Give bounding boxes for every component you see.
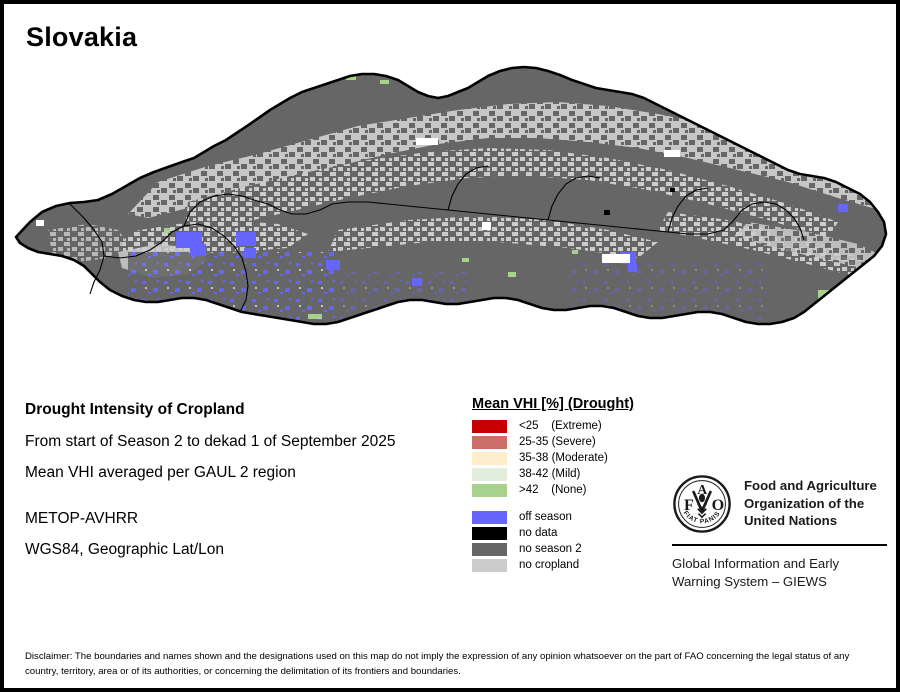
legend-item-no-season-2[interactable]: no season 2 — [472, 542, 702, 557]
legend-swatch-none — [472, 484, 507, 497]
legend-label-extreme: <25 (Extreme) — [519, 421, 602, 433]
legend-label-off-season: off season — [519, 512, 572, 524]
fao-divider — [672, 544, 887, 546]
legend-item-no-cropland[interactable]: no cropland — [472, 558, 702, 573]
fao-org-line-3: United Nations — [744, 512, 877, 530]
description-projection: WGS84, Geographic Lat/Lon — [25, 542, 465, 558]
description-heading: Drought Intensity of Cropland — [25, 402, 465, 418]
legend-item-none[interactable]: >42 (None) — [472, 483, 702, 498]
description-gap — [25, 497, 465, 511]
legend-label-none: >42 (None) — [519, 485, 586, 497]
legend-swatch-no-cropland — [472, 559, 507, 572]
legend-swatch-off-season — [472, 511, 507, 524]
disclaimer-text: Disclaimer: The boundaries and names sho… — [25, 650, 885, 680]
fao-org-line-2: Organization of the — [744, 495, 877, 513]
map-legend: Mean VHI [%] (Drought) <25 (Extreme) 25-… — [472, 397, 702, 574]
legend-swatch-extreme — [472, 420, 507, 433]
legend-label-moderate: 35-38 (Moderate) — [519, 453, 608, 465]
legend-item-no-data[interactable]: no data — [472, 526, 702, 541]
legend-item-extreme[interactable]: <25 (Extreme) — [472, 419, 702, 434]
fao-emblem-icon: F A O FIAT PANIS — [672, 474, 732, 534]
legend-title: Mean VHI [%] (Drought) — [472, 397, 702, 413]
description-period: From start of Season 2 to dekad 1 of Sep… — [25, 434, 465, 450]
legend-label-no-cropland: no cropland — [519, 560, 579, 572]
giews-line-2: Warning System – GIEWS — [672, 573, 896, 591]
legend-item-severe[interactable]: 25-35 (Severe) — [472, 435, 702, 450]
fao-organization-name: Food and Agriculture Organization of the… — [744, 474, 877, 530]
fao-branding: F A O FIAT PANIS Food and Agriculture — [672, 474, 896, 591]
map-canvas[interactable] — [8, 62, 900, 370]
legend-swatch-no-season-2 — [472, 543, 507, 556]
fao-org-line-1: Food and Agriculture — [744, 477, 877, 495]
legend-label-severe: 25-35 (Severe) — [519, 437, 596, 449]
giews-system-name: Global Information and Early Warning Sys… — [672, 555, 896, 591]
legend-label-no-season-2: no season 2 — [519, 544, 582, 556]
fao-logo-row: F A O FIAT PANIS Food and Agriculture — [672, 474, 896, 534]
legend-label-mild: 38-42 (Mild) — [519, 469, 580, 481]
page-title: Slovakia — [26, 24, 137, 51]
map-poster: Slovakia — [0, 0, 900, 692]
legend-item-moderate[interactable]: 35-38 (Moderate) — [472, 451, 702, 466]
description-sensor: METOP-AVHRR — [25, 511, 465, 527]
giews-line-1: Global Information and Early — [672, 555, 896, 573]
legend-label-no-data: no data — [519, 528, 557, 540]
legend-spacer — [472, 499, 702, 510]
legend-swatch-severe — [472, 436, 507, 449]
map-description: Drought Intensity of Cropland From start… — [25, 402, 465, 574]
legend-swatch-no-data — [472, 527, 507, 540]
legend-swatch-mild — [472, 468, 507, 481]
legend-swatch-moderate — [472, 452, 507, 465]
legend-item-off-season[interactable]: off season — [472, 510, 702, 525]
legend-item-mild[interactable]: 38-42 (Mild) — [472, 467, 702, 482]
description-aggregation: Mean VHI averaged per GAUL 2 region — [25, 465, 465, 481]
slovakia-map-svg[interactable] — [8, 62, 900, 370]
